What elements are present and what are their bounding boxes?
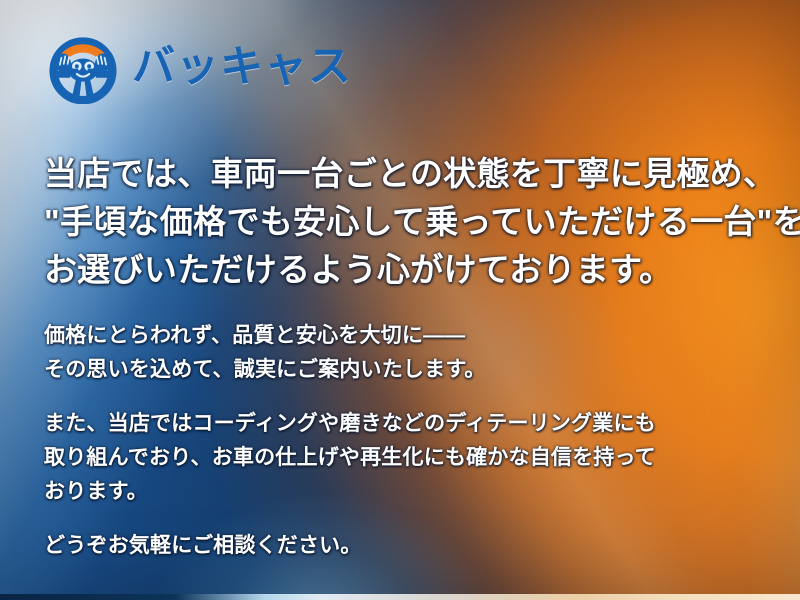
headline-line-3: お選びいただけるよう心がけております。	[44, 246, 800, 294]
paragraph-1-line-1: 価格にとらわれず、品質と安心を大切に——	[44, 319, 800, 353]
steering-wheel-mascot-icon	[44, 30, 122, 104]
promo-banner: バッキャス 当店では、車両一台ごとの状態を丁寧に見極め、 "手頃な価格でも安心し…	[0, 0, 800, 600]
paragraph-1-line-2: その思いを込めて、誠実にご案内いたします。	[44, 353, 800, 387]
paragraph-2-line-2: 取り組んでおり、お車の仕上げや再生化にも確かな自信を持って	[44, 441, 800, 475]
paragraph-2-line-1: また、当店ではコーディングや磨きなどのディテーリング業にも	[44, 407, 800, 441]
paragraph-1: 価格にとらわれず、品質と安心を大切に—— その思いを込めて、誠実にご案内いたしま…	[44, 319, 800, 387]
brand-logo-text: バッキャス	[132, 46, 352, 89]
body-copy: 価格にとらわれず、品質と安心を大切に—— その思いを込めて、誠実にご案内いたしま…	[44, 319, 800, 563]
headline-line-2: "手頃な価格でも安心して乗っていただける一台"を	[44, 198, 800, 246]
banner-content: バッキャス 当店では、車両一台ごとの状態を丁寧に見極め、 "手頃な価格でも安心し…	[0, 0, 800, 600]
headline-line-1: 当店では、車両一台ごとの状態を丁寧に見極め、	[44, 150, 800, 198]
paragraph-3: どうぞお気軽にご相談ください。	[44, 529, 800, 563]
paragraph-2-line-3: おります。	[44, 475, 800, 509]
paragraph-2: また、当店ではコーディングや磨きなどのディテーリング業にも 取り組んでおり、お車…	[44, 407, 800, 509]
paragraph-3-line-1: どうぞお気軽にご相談ください。	[44, 529, 800, 563]
brand-logo: バッキャス	[44, 28, 800, 106]
headline: 当店では、車両一台ごとの状態を丁寧に見極め、 "手頃な価格でも安心して乗っていた…	[44, 150, 800, 295]
